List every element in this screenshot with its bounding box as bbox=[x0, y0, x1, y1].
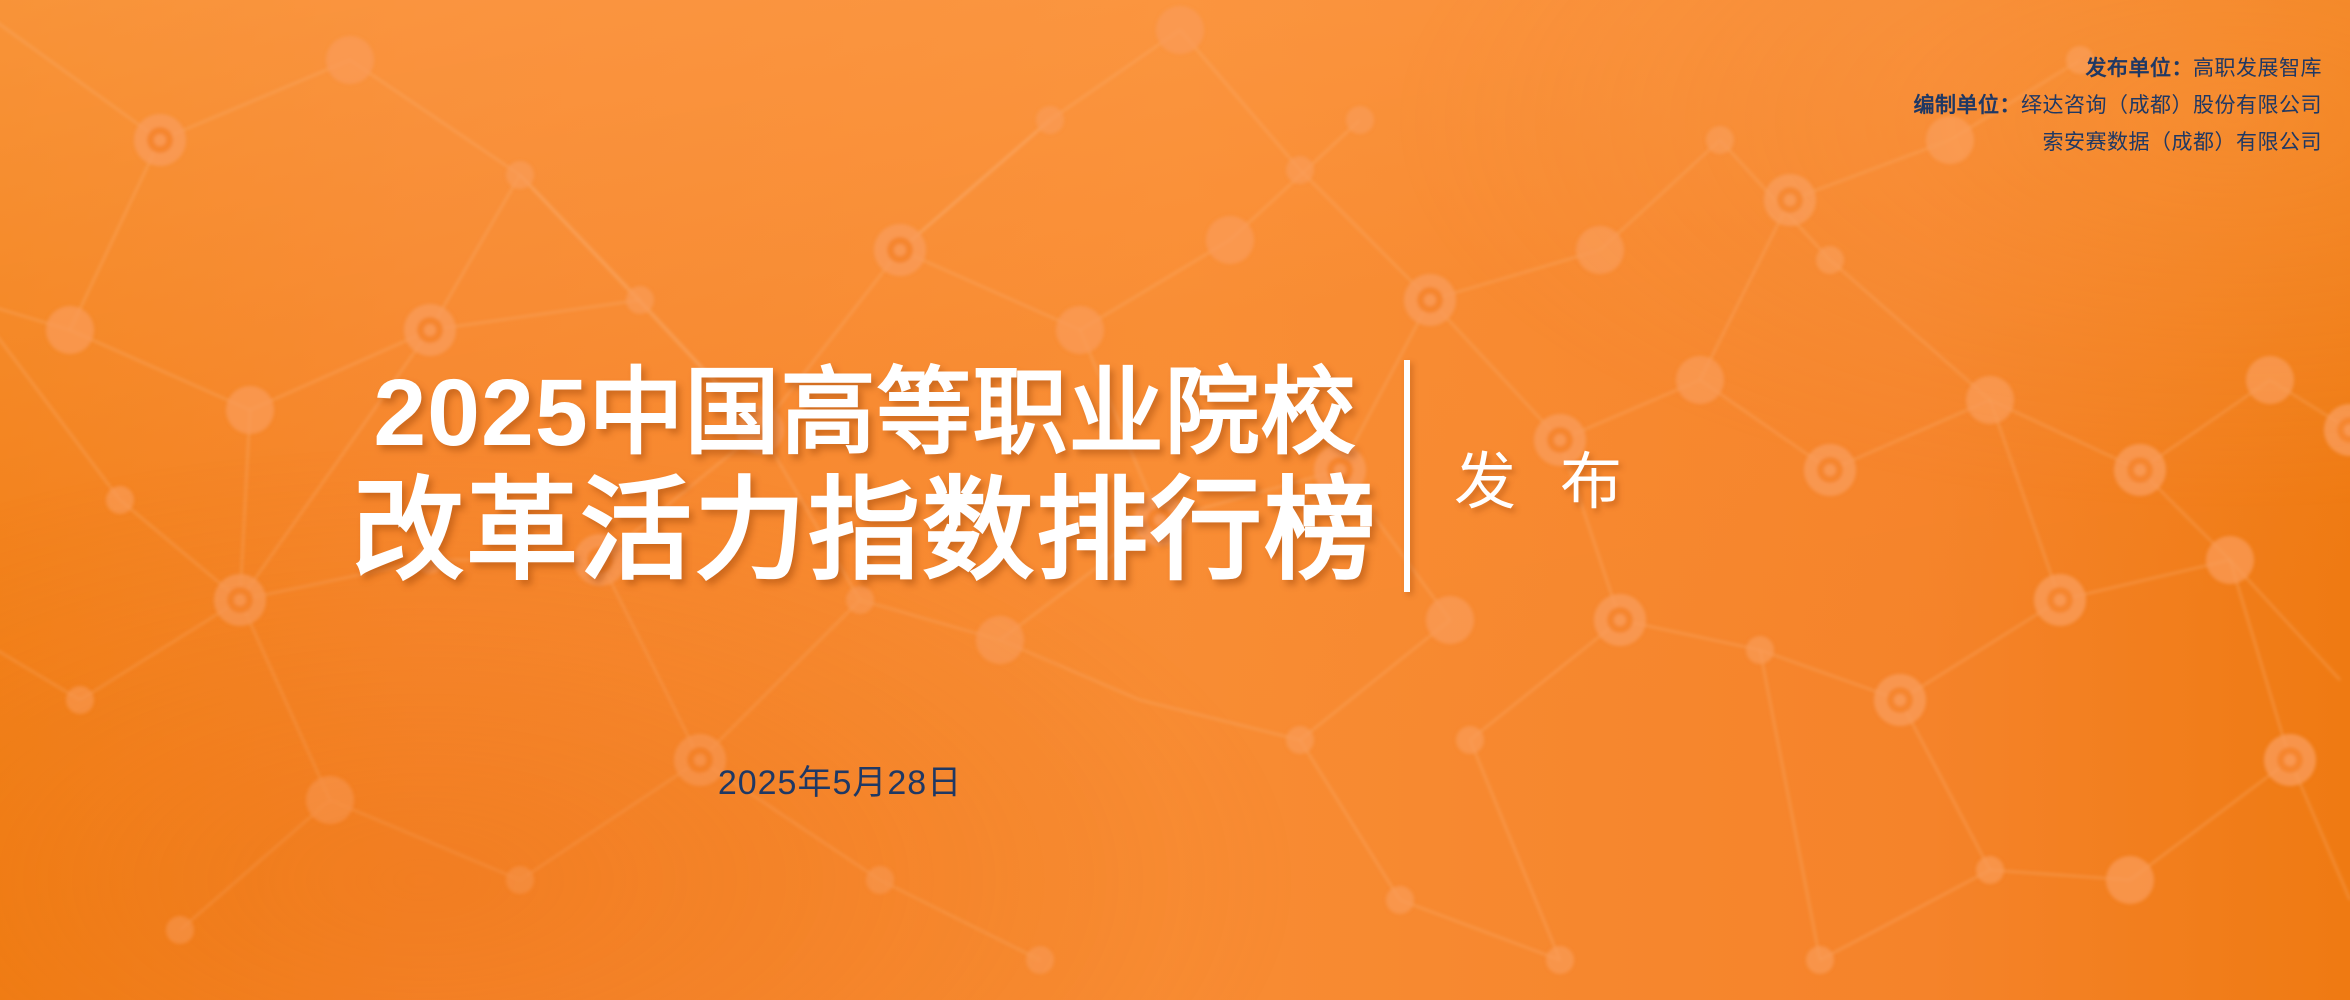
publisher-line-3: 编制单位： 索安赛数据（成都）有限公司 bbox=[1914, 132, 2323, 153]
publisher-label-2: 编制单位： bbox=[1914, 95, 2022, 116]
publisher-value-3: 索安赛数据（成都）有限公司 bbox=[2043, 132, 2323, 153]
release-date: 2025年5月28日 bbox=[0, 755, 1680, 804]
publisher-line-2: 编制单位： 绎达咨询（成都）股份有限公司 bbox=[1914, 95, 2323, 116]
publisher-value-2: 绎达咨询（成都）股份有限公司 bbox=[2021, 95, 2322, 116]
release-label: 发布 bbox=[1410, 431, 1666, 521]
publisher-info: 发布单位： 高职发展智库 编制单位： 绎达咨询（成都）股份有限公司 编制单位： … bbox=[1914, 58, 2323, 153]
publisher-label-1: 发布单位： bbox=[2086, 58, 2194, 79]
page-title-line-2: 改革活力指数排行榜 bbox=[352, 475, 1378, 587]
banner-root: 发布单位： 高职发展智库 编制单位： 绎达咨询（成都）股份有限公司 编制单位： … bbox=[0, 0, 2350, 1000]
publisher-line-1: 发布单位： 高职发展智库 bbox=[1914, 58, 2323, 79]
publisher-value-1: 高职发展智库 bbox=[2193, 58, 2322, 79]
page-title-line-1: 2025中国高等职业院校 bbox=[373, 366, 1356, 461]
title-lines: 2025中国高等职业院校 改革活力指数排行榜 bbox=[352, 366, 1378, 587]
title-block: 2025中国高等职业院校 改革活力指数排行榜 发布 bbox=[0, 360, 2350, 592]
